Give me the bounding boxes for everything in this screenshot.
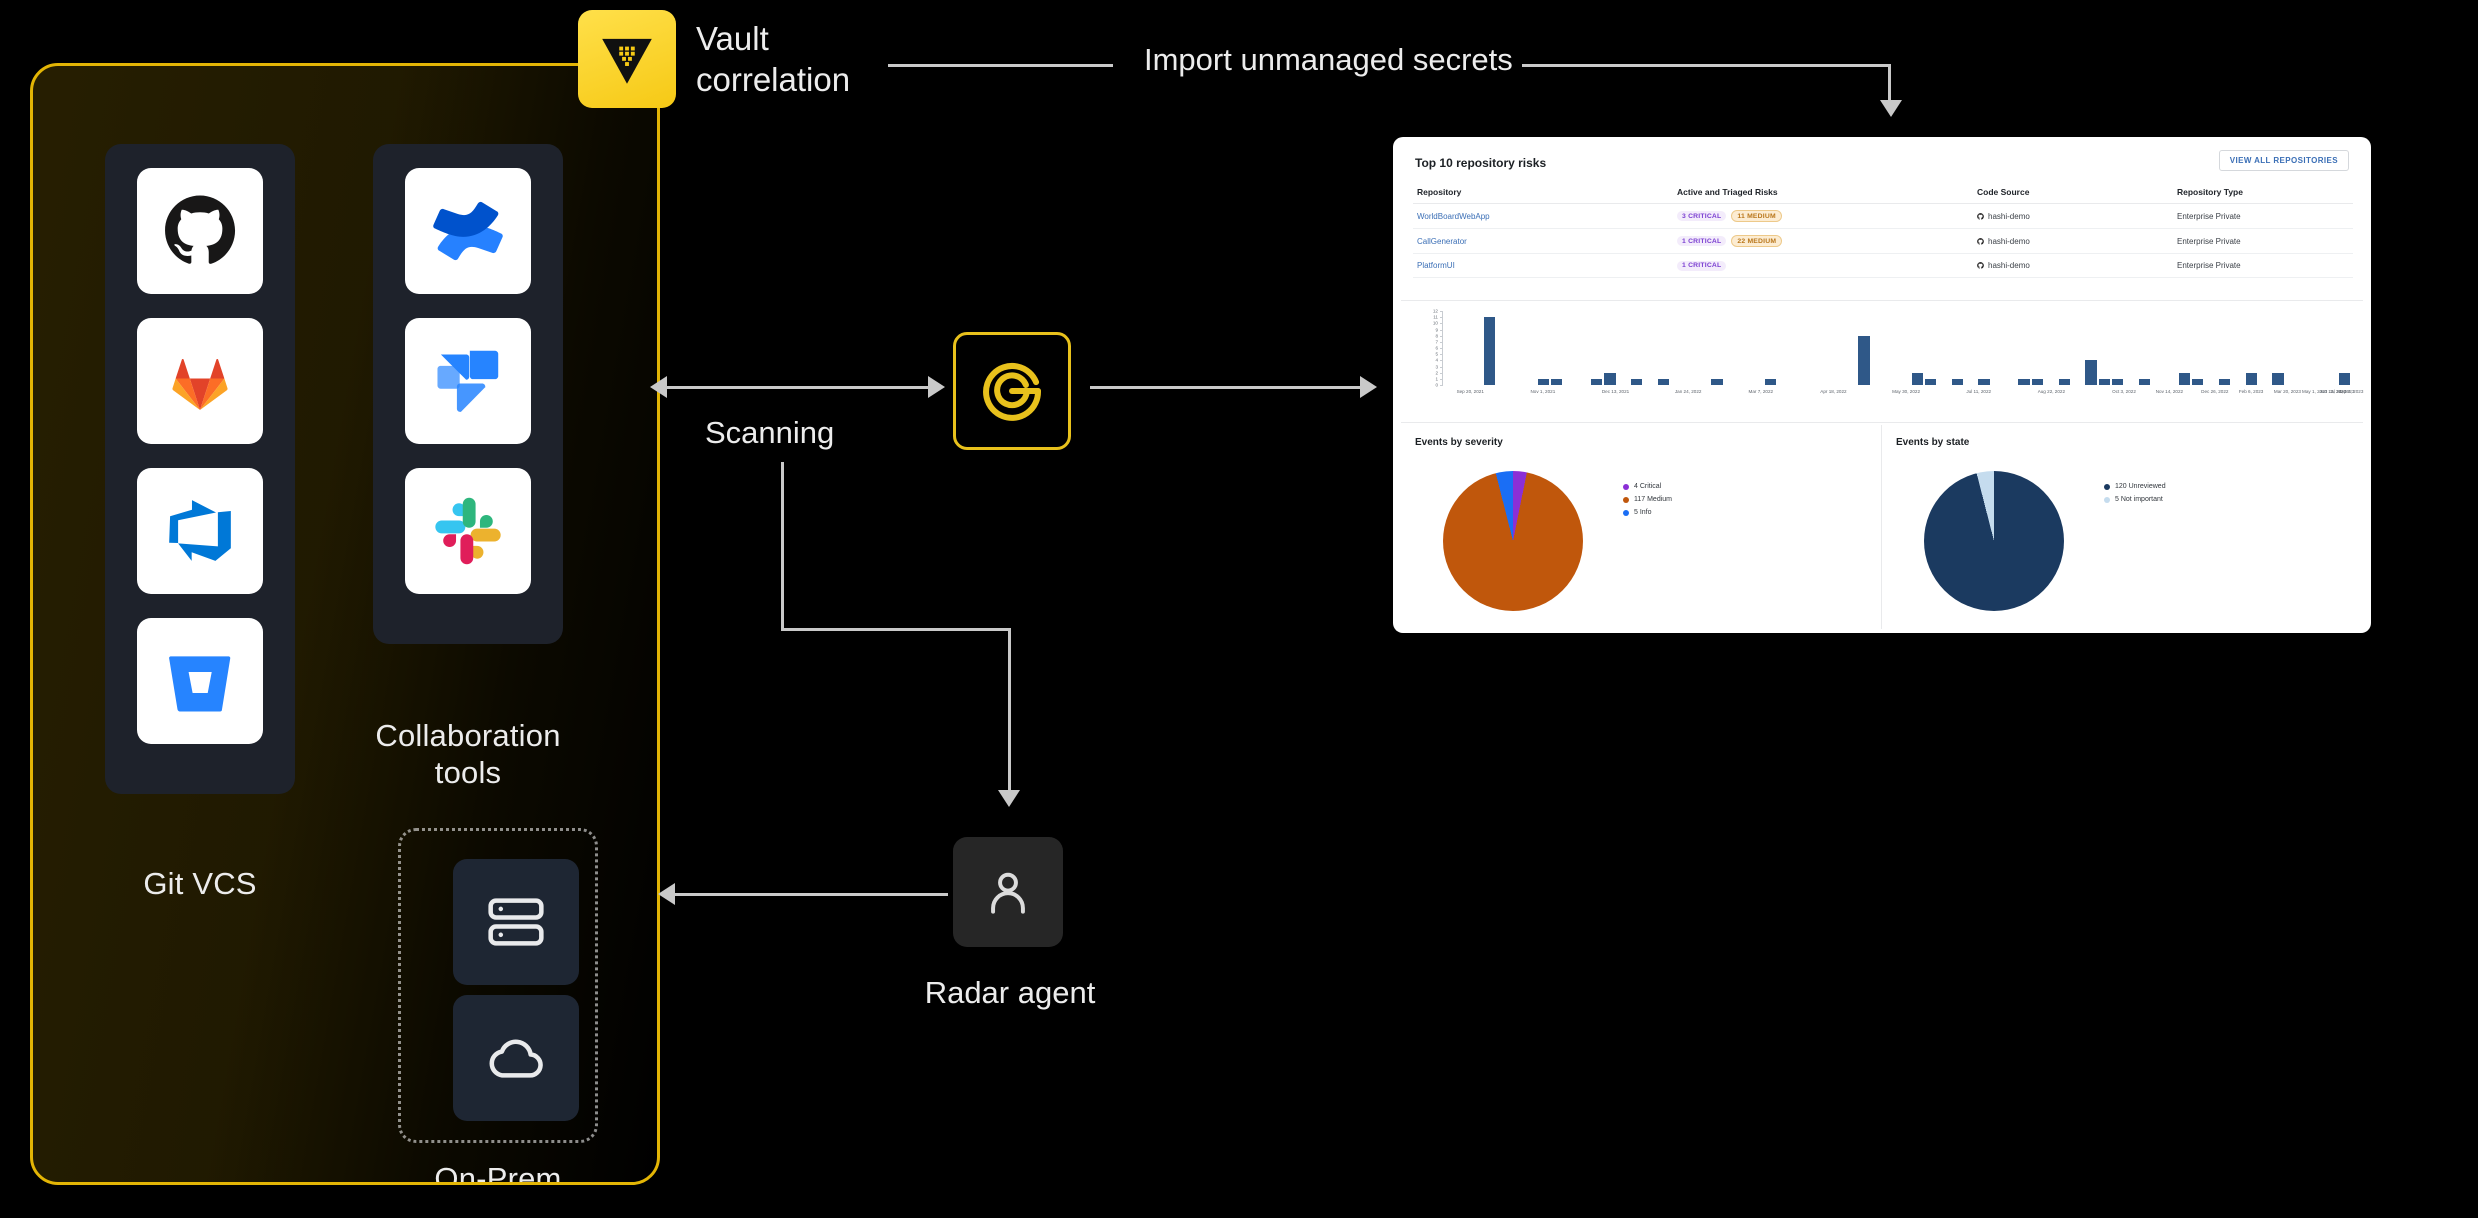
table-header-row: Repository Active and Triaged Risks Code… [1413, 181, 2353, 204]
collaboration-tools-column [373, 144, 563, 644]
table-row[interactable]: CallGenerator1 CRITICAL22 MEDIUMhashi-de… [1413, 229, 2353, 254]
bar[interactable] [1858, 336, 1869, 385]
bar-chart-y-axis: 0123456789101112 [1419, 311, 1443, 385]
x-tick-label: Nov 1, 2021 [1530, 389, 1555, 394]
events-by-severity-title: Events by severity [1415, 437, 1503, 448]
bar[interactable] [1658, 379, 1669, 385]
radar-agent-tile[interactable] [953, 837, 1063, 947]
radar-agent-caption: Radar agent [880, 975, 1140, 1011]
events-by-state-legend: 120 Unreviewed5 Not important [2104, 483, 2166, 509]
legend-label: 120 Unreviewed [2115, 483, 2166, 490]
scanning-label: Scanning [705, 415, 905, 451]
table-row[interactable]: PlatformUI1 CRITICALhashi-demoEnterprise… [1413, 254, 2353, 278]
agent-connector-vertical-2 [1008, 628, 1011, 796]
radar-spiral-logo-icon [974, 353, 1050, 429]
cell-code-source: hashi-demo [1973, 229, 2173, 254]
cell-repository-type: Enterprise Private [2173, 229, 2353, 254]
github-icon [1977, 213, 1984, 220]
collaboration-caption-line2: tools [435, 755, 501, 790]
critical-badge: 3 CRITICAL [1677, 211, 1726, 221]
repository-link[interactable]: PlatformUI [1417, 261, 1455, 270]
bar[interactable] [1952, 379, 1963, 385]
code-source-label: hashi-demo [1988, 261, 2030, 270]
y-tick-label: 10 [1433, 321, 1438, 326]
git-vcs-column [105, 144, 295, 794]
x-tick-label: Oct 3, 2022 [2112, 389, 2136, 394]
cell-risks: 1 CRITICAL [1673, 254, 1973, 278]
cell-code-source: hashi-demo [1973, 204, 2173, 229]
events-by-severity-legend: 4 Critical117 Medium5 Info [1623, 483, 1672, 522]
x-tick-label: Aug 22, 2022 [2038, 389, 2065, 394]
vault-label-line2: correlation [696, 61, 850, 98]
scanning-connector-line [660, 386, 940, 389]
table-row[interactable]: WorldBoardWebApp3 CRITICAL11 MEDIUMhashi… [1413, 204, 2353, 229]
source-systems-container: Git VCS Collaboration tools On-Prem [30, 63, 660, 1185]
dashboard-panel: Top 10 repository risks VIEW ALL REPOSIT… [1393, 137, 2371, 633]
y-tick-label: 1 [1435, 376, 1438, 381]
x-tick-label: Sep 4, 2023 [2339, 389, 2364, 394]
repo-card-title: Top 10 repository risks [1415, 156, 1546, 170]
server-icon [484, 890, 548, 954]
bar[interactable] [1484, 317, 1495, 385]
github-icon [1977, 238, 1984, 245]
events-by-state-pie [1924, 471, 2064, 611]
col-repository: Repository [1413, 181, 1673, 204]
agent-to-sources-line [668, 893, 948, 896]
vault-connector-left-segment [888, 64, 1113, 67]
server-tile[interactable] [453, 859, 579, 985]
cell-repository-type: Enterprise Private [2173, 254, 2353, 278]
radar-to-dashboard-line [1090, 386, 1371, 389]
legend-item: 120 Unreviewed [2104, 483, 2166, 490]
y-tick-label: 7 [1435, 339, 1438, 344]
radar-logo-tile[interactable] [953, 332, 1071, 450]
x-tick-label: Dec 13, 2021 [1602, 389, 1629, 394]
cell-risks: 3 CRITICAL11 MEDIUM [1673, 204, 1973, 229]
legend-item: 5 Not important [2104, 496, 2166, 503]
events-by-state-title: Events by state [1896, 437, 1969, 448]
col-active-triaged-risks: Active and Triaged Risks [1673, 181, 1973, 204]
events-by-severity-pie [1443, 471, 1583, 611]
bar[interactable] [2246, 373, 2257, 385]
bar[interactable] [1925, 379, 1936, 385]
y-tick-label: 9 [1435, 327, 1438, 332]
code-source-label: hashi-demo [1988, 212, 2030, 221]
bar[interactable] [2099, 379, 2110, 385]
scanning-arrowhead-right [928, 376, 945, 398]
y-tick-label: 12 [1433, 309, 1438, 314]
cloud-icon [484, 1026, 548, 1090]
vault-label-line1: Vault [696, 20, 769, 57]
import-unmanaged-secrets-label: Import unmanaged secrets [1144, 42, 1513, 78]
agent-connector-vertical-1 [781, 462, 784, 630]
bitbucket-tile[interactable] [137, 618, 263, 744]
bar-chart-plot-area [1443, 311, 2351, 385]
legend-label: 5 Not important [2115, 496, 2163, 503]
y-tick-label: 11 [1433, 315, 1438, 320]
x-tick-label: Mar 20, 2023 [2274, 389, 2301, 394]
bar[interactable] [1551, 379, 1562, 385]
slack-tile[interactable] [405, 468, 531, 594]
bar-chart-x-axis-labels: Sep 20, 2021Nov 1, 2021Dec 13, 2021Jan 2… [1443, 389, 2351, 403]
x-tick-label: Jan 24, 2022 [1675, 389, 1702, 394]
bar[interactable] [1538, 379, 1549, 385]
medium-badge: 22 MEDIUM [1731, 235, 1782, 247]
bar[interactable] [2339, 373, 2350, 385]
import-connector-arrowhead [1880, 100, 1902, 117]
bar[interactable] [1604, 373, 1615, 385]
y-tick-label: 0 [1435, 383, 1438, 388]
bar[interactable] [1978, 379, 1989, 385]
cell-code-source: hashi-demo [1973, 254, 2173, 278]
x-tick-label: Feb 6, 2023 [2239, 389, 2264, 394]
bar[interactable] [1912, 373, 1923, 385]
cell-risks: 1 CRITICAL22 MEDIUM [1673, 229, 1973, 254]
gitlab-tile[interactable] [137, 318, 263, 444]
cell-repository[interactable]: CallGenerator [1413, 229, 1673, 254]
import-connector-horizontal [1522, 64, 1891, 67]
y-tick-label: 3 [1435, 364, 1438, 369]
import-connector-vertical [1888, 64, 1891, 104]
legend-item: 5 Info [1623, 509, 1672, 516]
on-prem-caption: On-Prem [378, 1161, 618, 1185]
cell-repository[interactable]: PlatformUI [1413, 254, 1673, 278]
cloud-tile[interactable] [453, 995, 579, 1121]
x-tick-label: Apr 18, 2022 [1820, 389, 1846, 394]
cell-repository[interactable]: WorldBoardWebApp [1413, 204, 1673, 229]
x-tick-label: May 30, 2022 [1892, 389, 1920, 394]
legend-label: 4 Critical [1634, 483, 1661, 490]
jira-tile[interactable] [405, 318, 531, 444]
col-code-source: Code Source [1973, 181, 2173, 204]
legend-label: 117 Medium [1634, 496, 1672, 503]
legend-color-dot [1623, 497, 1629, 503]
legend-item: 4 Critical [1623, 483, 1672, 490]
bar[interactable] [1591, 379, 1602, 385]
radar-to-dashboard-arrowhead [1360, 376, 1377, 398]
legend-label: 5 Info [1634, 509, 1652, 516]
legend-color-dot [1623, 484, 1629, 490]
x-tick-label: Nov 14, 2022 [2156, 389, 2183, 394]
vault-logo-icon [596, 28, 658, 90]
critical-badge: 1 CRITICAL [1677, 236, 1726, 246]
legend-color-dot [1623, 510, 1629, 516]
bar[interactable] [2179, 373, 2190, 385]
bar[interactable] [2032, 379, 2043, 385]
events-by-state-card: Events by state 120 Unreviewed5 Not impo… [1882, 425, 2363, 629]
gitlab-icon [163, 344, 237, 418]
github-icon [1977, 262, 1984, 269]
y-tick-label: 8 [1435, 333, 1438, 338]
github-tile[interactable] [137, 168, 263, 294]
agent-connector-horizontal [781, 628, 1010, 631]
repository-link[interactable]: CallGenerator [1417, 237, 1467, 246]
x-tick-label: Jul 11, 2022 [1966, 389, 1991, 394]
medium-badge: 11 MEDIUM [1731, 210, 1781, 222]
azure-devops-tile[interactable] [137, 468, 263, 594]
bar[interactable] [2018, 379, 2029, 385]
bar[interactable] [2085, 360, 2096, 385]
bar[interactable] [1631, 379, 1642, 385]
collaboration-caption-line1: Collaboration [375, 718, 560, 753]
col-repository-type: Repository Type [2173, 181, 2353, 204]
slack-icon [433, 496, 503, 566]
bitbucket-icon [163, 644, 237, 718]
user-icon [980, 864, 1036, 920]
vault-logo-tile[interactable] [578, 10, 676, 108]
bar[interactable] [2112, 379, 2123, 385]
confluence-icon [431, 194, 505, 268]
agent-connector-arrowhead [998, 790, 1020, 807]
github-icon [163, 194, 237, 268]
y-tick-label: 5 [1435, 352, 1438, 357]
diagram-canvas: Git VCS Collaboration tools On-Prem Vaul… [0, 0, 2478, 1218]
vault-correlation-label: Vault correlation [696, 18, 926, 101]
on-prem-group [398, 828, 598, 1143]
y-tick-label: 2 [1435, 370, 1438, 375]
repository-link[interactable]: WorldBoardWebApp [1417, 212, 1490, 221]
git-vcs-caption: Git VCS [105, 866, 295, 903]
bar[interactable] [2059, 379, 2070, 385]
bar[interactable] [2219, 379, 2230, 385]
events-by-severity-card: Events by severity 4 Critical117 Medium5… [1401, 425, 1882, 629]
bar[interactable] [2272, 373, 2283, 385]
confluence-tile[interactable] [405, 168, 531, 294]
repository-risks-table: Repository Active and Triaged Risks Code… [1413, 181, 2353, 278]
agent-to-sources-arrowhead [658, 883, 675, 905]
bar[interactable] [1711, 379, 1722, 385]
legend-color-dot [2104, 497, 2110, 503]
y-tick-label: 4 [1435, 358, 1438, 363]
view-all-repositories-button[interactable]: VIEW ALL REPOSITORIES [2219, 150, 2349, 171]
y-tick-label: 6 [1435, 346, 1438, 351]
critical-badge: 1 CRITICAL [1677, 261, 1726, 271]
x-tick-label: Dec 26, 2022 [2201, 389, 2228, 394]
legend-item: 117 Medium [1623, 496, 1672, 503]
bar[interactable] [1765, 379, 1776, 385]
top-repository-risks-card: Top 10 repository risks VIEW ALL REPOSIT… [1401, 143, 2363, 301]
events-timeline-bar-chart: 0123456789101112 Sep 20, 2021Nov 1, 2021… [1401, 303, 2363, 423]
x-tick-label: Sep 20, 2021 [1457, 389, 1484, 394]
legend-color-dot [2104, 484, 2110, 490]
azure-devops-icon [163, 494, 237, 568]
scanning-arrowhead-left [650, 376, 667, 398]
x-tick-label: Mar 7, 2022 [1749, 389, 1774, 394]
bar[interactable] [2192, 379, 2203, 385]
cell-repository-type: Enterprise Private [2173, 204, 2353, 229]
bar[interactable] [2139, 379, 2150, 385]
code-source-label: hashi-demo [1988, 237, 2030, 246]
collaboration-caption: Collaboration tools [353, 718, 583, 791]
jira-icon [431, 344, 505, 418]
y-tick-notch [1440, 385, 1443, 386]
